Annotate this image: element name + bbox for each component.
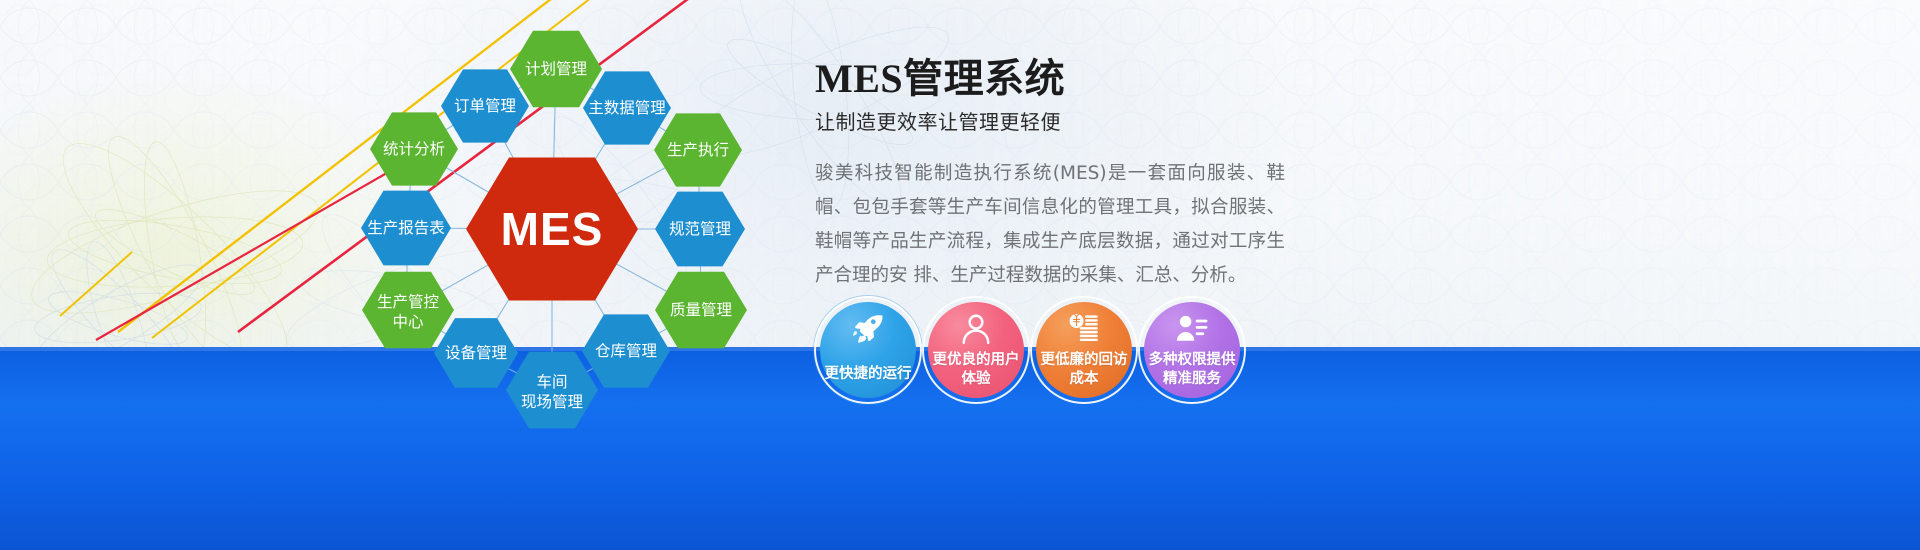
hex-node-label: 统计分析 — [383, 140, 445, 158]
feature-badge-2[interactable]: 更优良的用户体验 — [928, 302, 1024, 398]
hexagon-diagram-svg: 计划管理订单管理主数据管理统计分析生产执行生产报告表规范管理生产管控中心质量管理… — [330, 18, 800, 448]
mes-hexagon-diagram: 计划管理订单管理主数据管理统计分析生产执行生产报告表规范管理生产管控中心质量管理… — [330, 18, 800, 448]
user-list-icon — [1175, 312, 1209, 346]
hex-node-7[interactable]: 生产管控中心 — [362, 272, 454, 348]
hex-node-label: 生产执行 — [667, 141, 729, 159]
hex-node-8[interactable]: 质量管理 — [655, 272, 747, 348]
hex-node-label: 主数据管理 — [588, 99, 666, 117]
hero-description: 骏美科技智能制造执行系统(MES)是一套面向服装、鞋帽、包包手套等生产车间信息化… — [815, 157, 1285, 293]
hex-node-label: 仓库管理 — [595, 342, 657, 360]
badge-label: 更低廉的回访成本 — [1038, 351, 1130, 398]
hex-node-label: 规范管理 — [669, 220, 731, 238]
hex-node-10[interactable]: 仓库管理 — [582, 314, 670, 387]
hex-node-center[interactable]: MES — [466, 158, 638, 301]
hex-node-1[interactable]: 订单管理 — [441, 69, 529, 142]
hex-node-5[interactable]: 生产报告表 — [361, 191, 451, 266]
hex-node-4[interactable]: 生产执行 — [654, 113, 742, 186]
badge-label: 更优良的用户体验 — [930, 351, 1022, 398]
rocket-icon — [851, 312, 885, 346]
hex-node-label: 质量管理 — [670, 301, 732, 319]
feature-badge-row: 更快捷的运行更优良的用户体验更低廉的回访成本多种权限提供精准服务 — [820, 302, 1240, 398]
hex-node-2[interactable]: 主数据管理 — [583, 71, 671, 144]
hex-node-label: 生产报告表 — [367, 219, 445, 237]
hex-node-6[interactable]: 规范管理 — [655, 192, 745, 267]
hex-node-3[interactable]: 统计分析 — [370, 112, 458, 185]
feature-badge-1[interactable]: 更快捷的运行 — [820, 302, 916, 398]
money-icon — [1067, 312, 1101, 346]
badge-label: 更快捷的运行 — [822, 365, 914, 398]
hex-node-label: 计划管理 — [525, 60, 587, 78]
feature-badge-3[interactable]: 更低廉的回访成本 — [1036, 302, 1132, 398]
hex-node-0[interactable]: 计划管理 — [510, 31, 602, 107]
hex-node-11[interactable]: 车间现场管理 — [506, 352, 598, 428]
hero-text-column: MES管理系统 让制造更效率让管理更轻便 骏美科技智能制造执行系统(MES)是一… — [815, 58, 1335, 293]
hex-node-label: 订单管理 — [454, 97, 516, 115]
hex-node-9[interactable]: 设备管理 — [434, 318, 518, 388]
badge-label: 多种权限提供精准服务 — [1146, 351, 1238, 398]
hex-center-label: MES — [501, 203, 604, 255]
hero-description-text: 骏美科技智能制造执行系统(MES)是一套面向服装、鞋帽、包包手套等生产车间信息化… — [815, 157, 1285, 293]
hex-node-label: 设备管理 — [445, 344, 507, 362]
user-icon — [959, 312, 993, 346]
page-subtitle: 让制造更效率让管理更轻便 — [815, 106, 1335, 135]
feature-badge-4[interactable]: 多种权限提供精准服务 — [1144, 302, 1240, 398]
banner-stage: 计划管理订单管理主数据管理统计分析生产执行生产报告表规范管理生产管控中心质量管理… — [0, 0, 1920, 550]
page-title: MES管理系统 — [815, 58, 1335, 100]
